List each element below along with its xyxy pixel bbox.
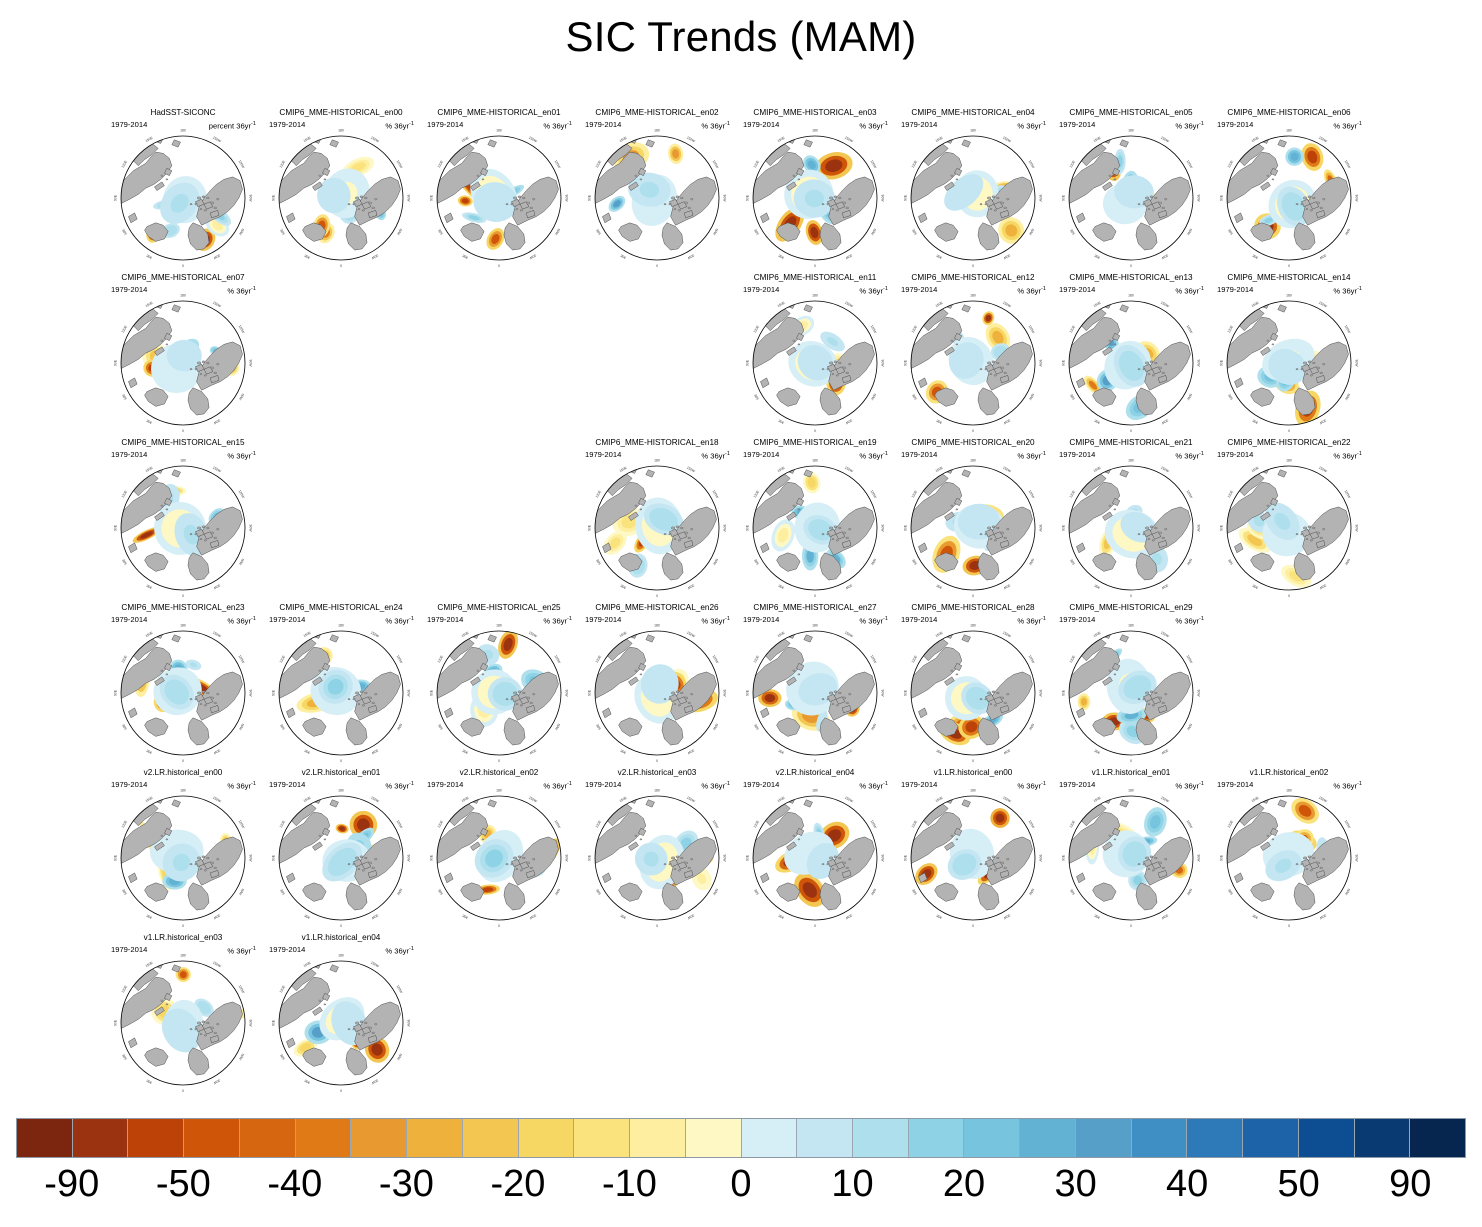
- colorbar-swatch: [463, 1119, 519, 1157]
- polar-map[interactable]: 180150W120W90W60W30W030E60E90E120E150E: [1061, 621, 1201, 763]
- svg-text:150E: 150E: [145, 135, 154, 143]
- polar-map[interactable]: 180150W120W90W60W30W030E60E90E120E150E: [113, 126, 253, 268]
- panel-title: CMIP6_MME-HISTORICAL_en26: [578, 603, 736, 613]
- svg-text:30W: 30W: [1160, 418, 1169, 425]
- svg-text:180: 180: [338, 953, 344, 957]
- svg-text:90E: 90E: [745, 194, 749, 201]
- panel-title: v2.LR.historical_en01: [262, 768, 420, 778]
- svg-text:90E: 90E: [113, 854, 117, 861]
- svg-text:0: 0: [1130, 429, 1132, 433]
- polar-map[interactable]: 180150W120W90W60W30W030E60E90E120E150E: [271, 786, 411, 928]
- polar-map[interactable]: 180150W120W90W60W30W030E60E90E120E150E: [745, 456, 885, 598]
- map-panel[interactable]: CMIP6_MME-HISTORICAL_en211979-2014% 36yr…: [1052, 438, 1210, 603]
- colorbar-tick: -50: [156, 1160, 211, 1208]
- polar-map[interactable]: 180150W120W90W60W30W030E60E90E120E150E: [1061, 291, 1201, 433]
- map-panel[interactable]: CMIP6_MME-HISTORICAL_en181979-2014% 36yr…: [578, 438, 736, 603]
- polar-map[interactable]: 180150W120W90W60W30W030E60E90E120E150E: [587, 786, 727, 928]
- svg-text:150W: 150W: [1318, 796, 1328, 804]
- svg-text:60W: 60W: [396, 723, 403, 732]
- colorbar-tick: -90: [44, 1160, 99, 1208]
- map-panel[interactable]: CMIP6_MME-HISTORICAL_en031979-2014% 36yr…: [736, 108, 894, 273]
- svg-text:60E: 60E: [753, 393, 760, 401]
- map-panel[interactable]: v2.LR.historical_en041979-2014% 36yr-118…: [736, 768, 894, 933]
- map-panel[interactable]: CMIP6_MME-HISTORICAL_en241979-2014% 36yr…: [262, 603, 420, 768]
- map-panel[interactable]: CMIP6_MME-HISTORICAL_en281979-2014% 36yr…: [894, 603, 1052, 768]
- svg-text:120E: 120E: [1069, 819, 1077, 828]
- polar-map[interactable]: 180150W120W90W60W30W030E60E90E120E150E: [113, 621, 253, 763]
- svg-text:30W: 30W: [212, 253, 221, 260]
- svg-text:0: 0: [814, 594, 816, 598]
- svg-text:0: 0: [182, 594, 184, 598]
- svg-text:0: 0: [1130, 264, 1132, 268]
- svg-text:90W: 90W: [881, 690, 885, 698]
- polar-map[interactable]: 180150W120W90W60W30W030E60E90E120E150E: [903, 456, 1043, 598]
- svg-text:90E: 90E: [745, 854, 749, 861]
- svg-text:120W: 120W: [238, 324, 246, 334]
- svg-text:90E: 90E: [903, 194, 907, 201]
- polar-map[interactable]: 180150W120W90W60W30W030E60E90E120E150E: [271, 951, 411, 1093]
- polar-map[interactable]: 180150W120W90W60W30W030E60E90E120E150E: [1219, 291, 1359, 433]
- polar-map[interactable]: 180150W120W90W60W30W030E60E90E120E150E: [903, 126, 1043, 268]
- colorbar-swatch: [519, 1119, 575, 1157]
- colorbar[interactable]: [16, 1118, 1466, 1158]
- svg-text:120E: 120E: [279, 984, 287, 993]
- svg-text:90E: 90E: [903, 689, 907, 696]
- svg-text:120W: 120W: [238, 984, 246, 994]
- svg-text:120W: 120W: [1344, 159, 1352, 169]
- panel-title: v2.LR.historical_en02: [420, 768, 578, 778]
- panel-title: v1.LR.historical_en00: [894, 768, 1052, 778]
- svg-text:30W: 30W: [1160, 583, 1169, 590]
- svg-text:180: 180: [180, 458, 186, 462]
- polar-map[interactable]: 180150W120W90W60W30W030E60E90E120E150E: [1219, 786, 1359, 928]
- polar-map[interactable]: 180150W120W90W60W30W030E60E90E120E150E: [113, 786, 253, 928]
- panel-title: CMIP6_MME-HISTORICAL_en27: [736, 603, 894, 613]
- panel-title: CMIP6_MME-HISTORICAL_en21: [1052, 438, 1210, 448]
- svg-text:120E: 120E: [911, 654, 919, 663]
- svg-text:0: 0: [182, 264, 184, 268]
- colorbar-swatch: [17, 1119, 73, 1157]
- map-panel[interactable]: CMIP6_MME-HISTORICAL_en051979-2014% 36yr…: [1052, 108, 1210, 273]
- svg-text:150E: 150E: [1093, 465, 1102, 473]
- svg-text:60E: 60E: [121, 888, 128, 896]
- polar-map[interactable]: 180150W120W90W60W30W030E60E90E120E150E: [745, 786, 885, 928]
- svg-text:180: 180: [970, 788, 976, 792]
- svg-text:180: 180: [654, 623, 660, 627]
- polar-map[interactable]: 180150W120W90W60W30W030E60E90E120E150E: [745, 621, 885, 763]
- svg-text:60E: 60E: [911, 723, 918, 731]
- svg-text:120E: 120E: [753, 489, 761, 498]
- svg-text:30W: 30W: [212, 418, 221, 425]
- svg-text:60E: 60E: [1069, 558, 1076, 566]
- map-panel[interactable]: CMIP6_MME-HISTORICAL_en071979-2014% 36yr…: [104, 273, 262, 438]
- colorbar-swatch: [742, 1119, 798, 1157]
- svg-text:0: 0: [1288, 429, 1290, 433]
- svg-text:30E: 30E: [461, 253, 469, 260]
- polar-map[interactable]: 180150W120W90W60W30W030E60E90E120E150E: [903, 786, 1043, 928]
- svg-text:150E: 150E: [1251, 795, 1260, 803]
- svg-text:150W: 150W: [1160, 136, 1170, 144]
- svg-text:30E: 30E: [145, 913, 153, 920]
- map-panel[interactable]: CMIP6_MME-HISTORICAL_en111979-2014% 36yr…: [736, 273, 894, 438]
- svg-text:150E: 150E: [777, 300, 786, 308]
- svg-text:90E: 90E: [1061, 689, 1065, 696]
- polar-map[interactable]: 180150W120W90W60W30W030E60E90E120E150E: [1061, 126, 1201, 268]
- svg-text:180: 180: [812, 458, 818, 462]
- svg-text:30W: 30W: [844, 253, 853, 260]
- colorbar-tick: 50: [1278, 1160, 1320, 1208]
- map-panel[interactable]: CMIP6_MME-HISTORICAL_en001979-2014% 36yr…: [262, 108, 420, 273]
- svg-text:120E: 120E: [121, 654, 129, 663]
- svg-text:150E: 150E: [461, 135, 470, 143]
- svg-text:180: 180: [496, 788, 502, 792]
- svg-text:120W: 120W: [1344, 819, 1352, 829]
- colorbar-swatch: [1020, 1119, 1076, 1157]
- polar-map[interactable]: 180150W120W90W60W30W030E60E90E120E150E: [903, 291, 1043, 433]
- svg-text:60E: 60E: [1227, 558, 1234, 566]
- map-panel[interactable]: CMIP6_MME-HISTORICAL_en231979-2014% 36yr…: [104, 603, 262, 768]
- map-panel[interactable]: HadSST-SICONC1979-2014percent 36yr-11801…: [104, 108, 262, 273]
- panel-title: v2.LR.historical_en03: [578, 768, 736, 778]
- svg-text:30W: 30W: [686, 913, 695, 920]
- map-panel[interactable]: CMIP6_MME-HISTORICAL_en271979-2014% 36yr…: [736, 603, 894, 768]
- svg-text:60W: 60W: [1186, 228, 1193, 237]
- svg-text:120W: 120W: [712, 654, 720, 664]
- polar-map[interactable]: 180150W120W90W60W30W030E60E90E120E150E: [429, 786, 569, 928]
- colorbar-tick: 10: [831, 1160, 873, 1208]
- colorbar-swatch: [184, 1119, 240, 1157]
- panel-title: CMIP6_MME-HISTORICAL_en14: [1210, 273, 1368, 283]
- svg-text:150W: 150W: [686, 631, 696, 639]
- svg-text:90E: 90E: [745, 524, 749, 531]
- svg-text:30E: 30E: [1251, 913, 1259, 920]
- map-panel[interactable]: v1.LR.historical_en021979-2014% 36yr-118…: [1210, 768, 1368, 933]
- svg-text:30W: 30W: [212, 1078, 221, 1085]
- svg-text:30W: 30W: [1002, 418, 1011, 425]
- polar-map[interactable]: 180150W120W90W60W30W030E60E90E120E150E: [745, 291, 885, 433]
- svg-text:120W: 120W: [712, 489, 720, 499]
- map-panel[interactable]: CMIP6_MME-HISTORICAL_en131979-2014% 36yr…: [1052, 273, 1210, 438]
- map-panel[interactable]: CMIP6_MME-HISTORICAL_en261979-2014% 36yr…: [578, 603, 736, 768]
- svg-text:30E: 30E: [461, 748, 469, 755]
- colorbar-swatch: [853, 1119, 909, 1157]
- svg-text:150E: 150E: [1093, 135, 1102, 143]
- map-panel[interactable]: CMIP6_MME-HISTORICAL_en201979-2014% 36yr…: [894, 438, 1052, 603]
- svg-text:0: 0: [182, 759, 184, 763]
- svg-text:60E: 60E: [121, 723, 128, 731]
- svg-text:90E: 90E: [429, 194, 433, 201]
- svg-text:0: 0: [814, 264, 816, 268]
- colorbar-swatch: [1355, 1119, 1411, 1157]
- svg-text:120E: 120E: [595, 489, 603, 498]
- svg-text:120E: 120E: [437, 819, 445, 828]
- svg-text:30E: 30E: [935, 418, 943, 425]
- svg-text:150W: 150W: [1002, 796, 1012, 804]
- svg-text:150E: 150E: [619, 795, 628, 803]
- panel-title: CMIP6_MME-HISTORICAL_en01: [420, 108, 578, 118]
- svg-text:150E: 150E: [303, 960, 312, 968]
- svg-text:150E: 150E: [145, 300, 154, 308]
- map-panel[interactable]: CMIP6_MME-HISTORICAL_en011979-2014% 36yr…: [420, 108, 578, 273]
- svg-text:60E: 60E: [911, 558, 918, 566]
- polar-map[interactable]: 180150W120W90W60W30W030E60E90E120E150E: [271, 621, 411, 763]
- svg-text:150E: 150E: [935, 795, 944, 803]
- svg-text:150E: 150E: [1251, 135, 1260, 143]
- map-panel[interactable]: CMIP6_MME-HISTORICAL_en141979-2014% 36yr…: [1210, 273, 1368, 438]
- svg-text:30W: 30W: [1318, 253, 1327, 260]
- svg-text:90W: 90W: [723, 525, 727, 533]
- svg-text:150E: 150E: [1093, 630, 1102, 638]
- svg-text:90E: 90E: [113, 194, 117, 201]
- svg-text:90W: 90W: [565, 690, 569, 698]
- svg-text:60W: 60W: [712, 228, 719, 237]
- colorbar-tick: 30: [1054, 1160, 1096, 1208]
- polar-map[interactable]: 180150W120W90W60W30W030E60E90E120E150E: [903, 621, 1043, 763]
- panel-title: v2.LR.historical_en04: [736, 768, 894, 778]
- svg-text:180: 180: [1286, 128, 1292, 132]
- svg-text:60E: 60E: [911, 228, 918, 236]
- colorbar-tick: -30: [379, 1160, 434, 1208]
- svg-text:0: 0: [972, 759, 974, 763]
- colorbar-tick: -20: [490, 1160, 545, 1208]
- svg-text:30W: 30W: [844, 418, 853, 425]
- svg-text:90W: 90W: [249, 195, 253, 203]
- svg-text:60W: 60W: [712, 723, 719, 732]
- polar-map[interactable]: 180150W120W90W60W30W030E60E90E120E150E: [587, 456, 727, 598]
- svg-text:180: 180: [180, 623, 186, 627]
- svg-text:30W: 30W: [686, 583, 695, 590]
- svg-text:150W: 150W: [1002, 301, 1012, 309]
- svg-text:0: 0: [1288, 594, 1290, 598]
- svg-text:90W: 90W: [1197, 855, 1201, 863]
- svg-text:150W: 150W: [1002, 136, 1012, 144]
- svg-text:90W: 90W: [1039, 855, 1043, 863]
- panel-title: HadSST-SICONC: [104, 108, 262, 118]
- svg-text:120E: 120E: [121, 984, 129, 993]
- svg-text:60W: 60W: [396, 888, 403, 897]
- map-panel[interactable]: v2.LR.historical_en001979-2014% 36yr-118…: [104, 768, 262, 933]
- svg-text:150W: 150W: [1160, 631, 1170, 639]
- svg-text:120W: 120W: [238, 489, 246, 499]
- svg-text:30E: 30E: [777, 748, 785, 755]
- svg-text:180: 180: [1128, 128, 1134, 132]
- svg-text:180: 180: [970, 623, 976, 627]
- svg-text:120E: 120E: [1227, 159, 1235, 168]
- svg-text:30W: 30W: [844, 913, 853, 920]
- svg-text:30E: 30E: [145, 418, 153, 425]
- svg-text:60W: 60W: [1028, 393, 1035, 402]
- svg-text:0: 0: [182, 924, 184, 928]
- map-panel[interactable]: v1.LR.historical_en041979-2014% 36yr-118…: [262, 933, 420, 1098]
- panel-title: CMIP6_MME-HISTORICAL_en06: [1210, 108, 1368, 118]
- polar-map[interactable]: 180150W120W90W60W30W030E60E90E120E150E: [1219, 456, 1359, 598]
- svg-text:120E: 120E: [279, 819, 287, 828]
- svg-text:60W: 60W: [238, 393, 245, 402]
- svg-text:120W: 120W: [1186, 159, 1194, 169]
- svg-text:120E: 120E: [121, 489, 129, 498]
- svg-text:90E: 90E: [1219, 524, 1223, 531]
- polar-map[interactable]: 180150W120W90W60W30W030E60E90E120E150E: [271, 126, 411, 268]
- svg-text:30E: 30E: [1093, 583, 1101, 590]
- polar-map[interactable]: 180150W120W90W60W30W030E60E90E120E150E: [1219, 126, 1359, 268]
- svg-text:180: 180: [970, 458, 976, 462]
- svg-text:90W: 90W: [723, 690, 727, 698]
- map-panel[interactable]: CMIP6_MME-HISTORICAL_en191979-2014% 36yr…: [736, 438, 894, 603]
- svg-text:60W: 60W: [1344, 558, 1351, 567]
- colorbar-swatch: [686, 1119, 742, 1157]
- svg-text:150E: 150E: [1251, 465, 1260, 473]
- map-panel[interactable]: CMIP6_MME-HISTORICAL_en061979-2014% 36yr…: [1210, 108, 1368, 273]
- svg-text:60E: 60E: [911, 393, 918, 401]
- svg-text:0: 0: [340, 759, 342, 763]
- svg-text:30W: 30W: [528, 748, 537, 755]
- polar-map[interactable]: 180150W120W90W60W30W030E60E90E120E150E: [113, 291, 253, 433]
- map-panel[interactable]: v1.LR.historical_en001979-2014% 36yr-118…: [894, 768, 1052, 933]
- svg-text:30E: 30E: [145, 253, 153, 260]
- map-panel[interactable]: v2.LR.historical_en021979-2014% 36yr-118…: [420, 768, 578, 933]
- svg-text:30W: 30W: [1318, 583, 1327, 590]
- svg-text:90W: 90W: [1355, 525, 1359, 533]
- svg-text:150W: 150W: [212, 631, 222, 639]
- svg-text:150E: 150E: [935, 135, 944, 143]
- map-panel[interactable]: CMIP6_MME-HISTORICAL_en291979-2014% 36yr…: [1052, 603, 1210, 768]
- svg-text:30E: 30E: [1093, 913, 1101, 920]
- svg-text:60E: 60E: [279, 888, 286, 896]
- svg-text:90W: 90W: [881, 855, 885, 863]
- svg-text:90W: 90W: [1197, 360, 1201, 368]
- map-panel[interactable]: CMIP6_MME-HISTORICAL_en251979-2014% 36yr…: [420, 603, 578, 768]
- svg-text:150W: 150W: [528, 136, 538, 144]
- polar-map[interactable]: 180150W120W90W60W30W030E60E90E120E150E: [587, 126, 727, 268]
- svg-text:60W: 60W: [238, 1053, 245, 1062]
- svg-text:30E: 30E: [1093, 418, 1101, 425]
- svg-text:60W: 60W: [1186, 558, 1193, 567]
- colorbar-tick-labels: -90-50-40-30-20-100102030405090: [16, 1160, 1466, 1212]
- svg-text:60E: 60E: [1069, 888, 1076, 896]
- map-panel[interactable]: CMIP6_MME-HISTORICAL_en041979-2014% 36yr…: [894, 108, 1052, 273]
- svg-text:180: 180: [1128, 458, 1134, 462]
- map-panel[interactable]: CMIP6_MME-HISTORICAL_en121979-2014% 36yr…: [894, 273, 1052, 438]
- svg-text:120W: 120W: [554, 159, 562, 169]
- svg-text:120W: 120W: [870, 324, 878, 334]
- polar-map[interactable]: 180150W120W90W60W30W030E60E90E120E150E: [1061, 786, 1201, 928]
- svg-text:120W: 120W: [554, 654, 562, 664]
- panel-title: v1.LR.historical_en03: [104, 933, 262, 943]
- map-panel[interactable]: CMIP6_MME-HISTORICAL_en151979-2014% 36yr…: [104, 438, 262, 603]
- svg-text:120W: 120W: [1344, 489, 1352, 499]
- svg-text:90W: 90W: [249, 360, 253, 368]
- svg-text:150E: 150E: [1093, 300, 1102, 308]
- svg-text:60E: 60E: [437, 723, 444, 731]
- svg-text:0: 0: [1288, 264, 1290, 268]
- svg-text:120E: 120E: [1069, 324, 1077, 333]
- map-panel[interactable]: CMIP6_MME-HISTORICAL_en021979-2014% 36yr…: [578, 108, 736, 273]
- svg-text:150E: 150E: [777, 630, 786, 638]
- svg-text:120E: 120E: [1069, 489, 1077, 498]
- svg-text:120E: 120E: [911, 489, 919, 498]
- svg-text:120E: 120E: [121, 324, 129, 333]
- svg-text:120E: 120E: [753, 654, 761, 663]
- polar-map[interactable]: 180150W120W90W60W30W030E60E90E120E150E: [745, 126, 885, 268]
- svg-text:150W: 150W: [844, 631, 854, 639]
- svg-text:0: 0: [340, 264, 342, 268]
- svg-text:60E: 60E: [121, 1053, 128, 1061]
- svg-text:120W: 120W: [396, 984, 404, 994]
- svg-text:150W: 150W: [528, 631, 538, 639]
- svg-text:180: 180: [812, 293, 818, 297]
- colorbar-block: -90-50-40-30-20-100102030405090: [0, 1110, 1482, 1220]
- svg-text:0: 0: [182, 1089, 184, 1093]
- svg-text:150W: 150W: [844, 796, 854, 804]
- map-panel[interactable]: v2.LR.historical_en031979-2014% 36yr-118…: [578, 768, 736, 933]
- panel-title: CMIP6_MME-HISTORICAL_en04: [894, 108, 1052, 118]
- svg-text:90E: 90E: [1061, 194, 1065, 201]
- map-panel[interactable]: v1.LR.historical_en011979-2014% 36yr-118…: [1052, 768, 1210, 933]
- svg-text:150W: 150W: [212, 961, 222, 969]
- polar-map[interactable]: 180150W120W90W60W30W030E60E90E120E150E: [113, 456, 253, 598]
- svg-text:180: 180: [338, 788, 344, 792]
- svg-text:0: 0: [656, 759, 658, 763]
- svg-text:150E: 150E: [777, 135, 786, 143]
- svg-text:150E: 150E: [145, 465, 154, 473]
- svg-text:120E: 120E: [1227, 489, 1235, 498]
- polar-map[interactable]: 180150W120W90W60W30W030E60E90E120E150E: [113, 951, 253, 1093]
- svg-text:90E: 90E: [113, 524, 117, 531]
- polar-map[interactable]: 180150W120W90W60W30W030E60E90E120E150E: [429, 621, 569, 763]
- svg-text:180: 180: [338, 128, 344, 132]
- polar-map[interactable]: 180150W120W90W60W30W030E60E90E120E150E: [1061, 456, 1201, 598]
- svg-text:60E: 60E: [437, 228, 444, 236]
- colorbar-tick: -40: [267, 1160, 322, 1208]
- svg-text:60W: 60W: [554, 723, 561, 732]
- svg-text:120W: 120W: [1186, 654, 1194, 664]
- svg-text:90W: 90W: [1355, 360, 1359, 368]
- svg-text:120W: 120W: [396, 654, 404, 664]
- polar-map[interactable]: 180150W120W90W60W30W030E60E90E120E150E: [587, 621, 727, 763]
- svg-text:60E: 60E: [1069, 723, 1076, 731]
- svg-text:60E: 60E: [121, 558, 128, 566]
- polar-map[interactable]: 180150W120W90W60W30W030E60E90E120E150E: [429, 126, 569, 268]
- map-panel[interactable]: v1.LR.historical_en031979-2014% 36yr-118…: [104, 933, 262, 1098]
- panel-title: CMIP6_MME-HISTORICAL_en02: [578, 108, 736, 118]
- svg-text:60E: 60E: [437, 888, 444, 896]
- svg-text:60W: 60W: [1344, 228, 1351, 237]
- svg-text:60W: 60W: [1186, 888, 1193, 897]
- colorbar-swatch: [630, 1119, 686, 1157]
- svg-text:90W: 90W: [1039, 360, 1043, 368]
- svg-text:60E: 60E: [1069, 393, 1076, 401]
- map-panel[interactable]: v2.LR.historical_en011979-2014% 36yr-118…: [262, 768, 420, 933]
- panel-title: CMIP6_MME-HISTORICAL_en20: [894, 438, 1052, 448]
- svg-text:60E: 60E: [1227, 888, 1234, 896]
- colorbar-tick: -10: [602, 1160, 657, 1208]
- svg-text:90W: 90W: [249, 690, 253, 698]
- svg-text:120W: 120W: [870, 489, 878, 499]
- svg-text:30W: 30W: [1160, 748, 1169, 755]
- panel-title: CMIP6_MME-HISTORICAL_en22: [1210, 438, 1368, 448]
- svg-text:150E: 150E: [461, 630, 470, 638]
- svg-text:0: 0: [340, 1089, 342, 1093]
- svg-text:120W: 120W: [238, 159, 246, 169]
- map-panel[interactable]: CMIP6_MME-HISTORICAL_en221979-2014% 36yr…: [1210, 438, 1368, 603]
- svg-text:150W: 150W: [528, 796, 538, 804]
- svg-text:90W: 90W: [1197, 195, 1201, 203]
- svg-text:180: 180: [338, 623, 344, 627]
- svg-text:30E: 30E: [303, 253, 311, 260]
- svg-text:90E: 90E: [903, 524, 907, 531]
- svg-text:30W: 30W: [1002, 913, 1011, 920]
- svg-text:30W: 30W: [212, 583, 221, 590]
